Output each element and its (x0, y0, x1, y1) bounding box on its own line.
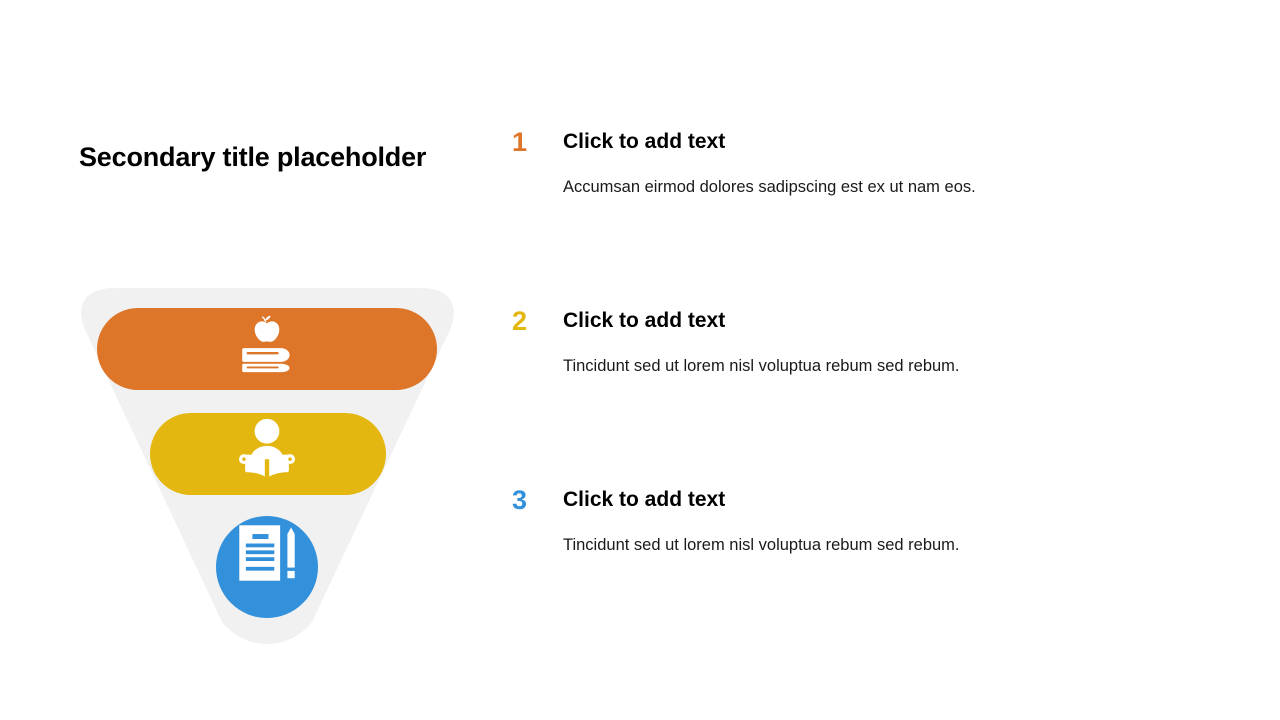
funnel-stage-3-circle (216, 516, 318, 618)
list-item[interactable]: 3 Click to add text Tincidunt sed ut lor… (512, 487, 1212, 667)
item-description[interactable]: Tincidunt sed ut lorem nisl voluptua reb… (563, 355, 1212, 378)
item-number: 1 (512, 129, 548, 156)
list-item[interactable]: 2 Click to add text Tincidunt sed ut lor… (512, 308, 1212, 488)
list-item[interactable]: 1 Click to add text Accumsan eirmod dolo… (512, 129, 1212, 309)
items-list: 1 Click to add text Accumsan eirmod dolo… (512, 130, 1212, 667)
funnel-stage-1-bar (97, 308, 437, 390)
item-body: Click to add text Accumsan eirmod dolore… (563, 129, 1212, 199)
funnel-diagram[interactable] (79, 288, 456, 636)
item-heading[interactable]: Click to add text (563, 487, 1212, 512)
item-heading[interactable]: Click to add text (563, 308, 1212, 333)
funnel-stage-2-bar (150, 413, 386, 495)
item-number: 2 (512, 308, 548, 335)
item-body: Click to add text Tincidunt sed ut lorem… (563, 487, 1212, 557)
item-description[interactable]: Tincidunt sed ut lorem nisl voluptua reb… (563, 534, 1212, 557)
item-description[interactable]: Accumsan eirmod dolores sadipscing est e… (563, 176, 1212, 199)
item-number: 3 (512, 487, 548, 514)
item-body: Click to add text Tincidunt sed ut lorem… (563, 308, 1212, 378)
left-column: Secondary title placeholder (79, 138, 459, 176)
item-heading[interactable]: Click to add text (563, 129, 1212, 154)
page-title[interactable]: Secondary title placeholder (79, 138, 459, 176)
slide-canvas: Secondary title placeholder (0, 0, 1280, 720)
